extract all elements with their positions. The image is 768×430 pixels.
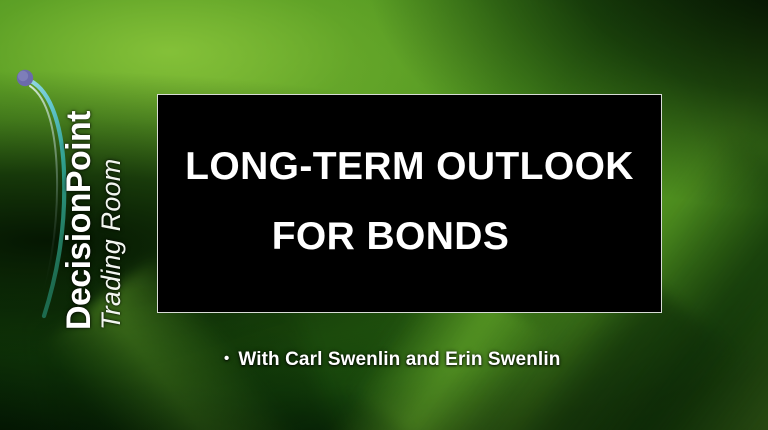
title-line-2: FOR BONDS xyxy=(272,217,510,256)
presentation-slide: DecisionPoint Trading Room LONG-TERM OUT… xyxy=(0,0,768,430)
logo-secondary-text: Trading Room xyxy=(96,159,127,330)
bullet-icon: • xyxy=(224,351,229,366)
subtitle-text: With Carl Swenlin and Erin Swenlin xyxy=(238,349,560,371)
title-box: LONG-TERM OUTLOOK FOR BONDS xyxy=(157,94,662,313)
title-line-1: LONG-TERM OUTLOOK xyxy=(185,147,634,186)
logo-primary-text: DecisionPoint xyxy=(60,111,99,330)
subtitle-presenters: • With Carl Swenlin and Erin Swenlin xyxy=(224,349,560,371)
decisionpoint-logo: DecisionPoint Trading Room xyxy=(0,0,140,430)
